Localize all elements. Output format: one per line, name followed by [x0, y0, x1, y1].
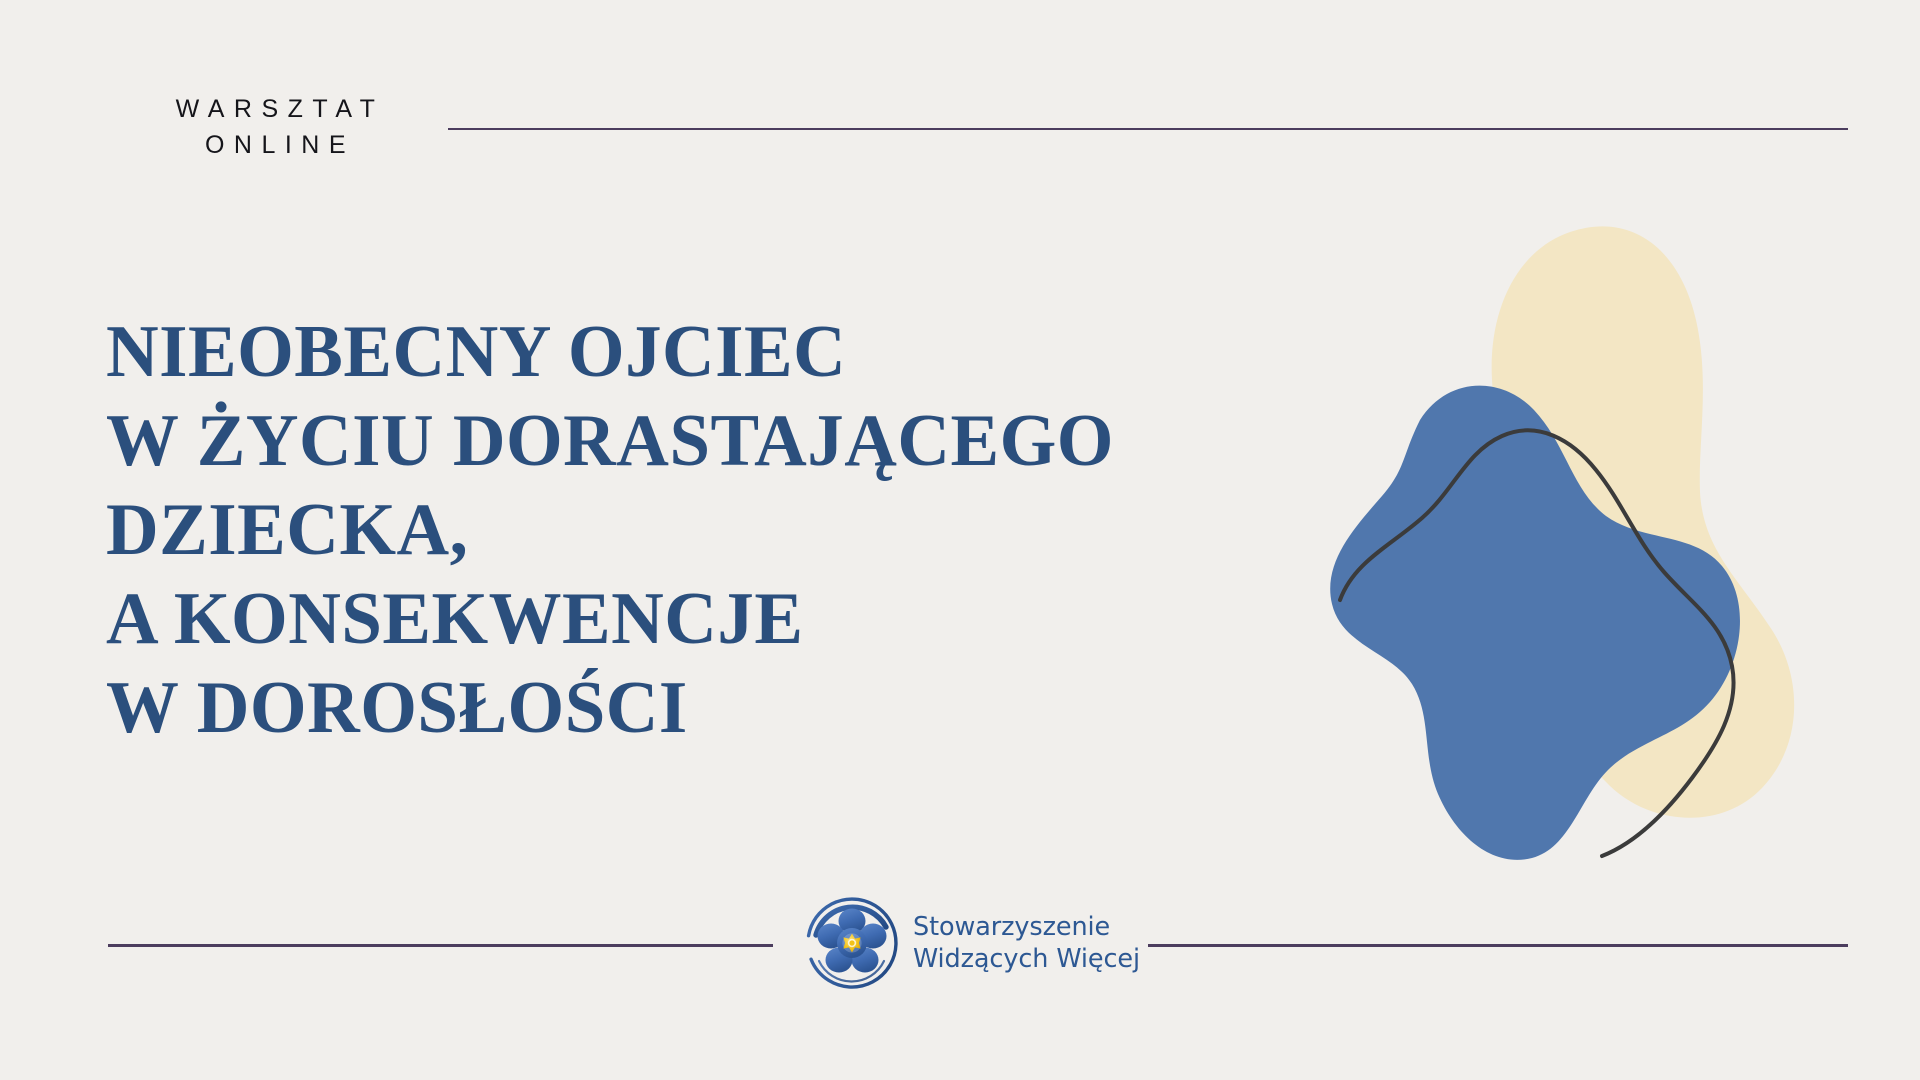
headline-line-5: W DOROSŁOŚCI: [106, 664, 1268, 753]
organization-logo: Stowarzyszenie Widzących Więcej: [800, 884, 1120, 1002]
organization-name-line-1: Stowarzyszenie: [913, 911, 1140, 943]
page-title: NIEOBECNY OJCIEC W ŻYCIU DORASTAJĄCEGO D…: [106, 308, 1268, 754]
headline-line-3: DZIECKA,: [106, 486, 1268, 575]
headline-line-4: A KONSEKWENCJE: [106, 575, 1268, 664]
forget-me-not-flower-icon: [800, 891, 904, 995]
blue-blob-shape: [1330, 386, 1740, 860]
decorative-blobs: [1280, 180, 1920, 860]
divider-bottom-left: [108, 944, 773, 947]
eyebrow-row: WARSZTAT ONLINE: [0, 92, 1920, 172]
cream-blob-shape: [1492, 226, 1795, 817]
organization-name-line-2: Widzących Więcej: [913, 943, 1140, 975]
eyebrow-line-1: WARSZTAT: [176, 95, 385, 123]
outline-squiggle-shape: [1340, 430, 1734, 856]
eyebrow-line-2: ONLINE: [140, 128, 420, 164]
divider-top: [448, 128, 1848, 130]
headline-line-1: NIEOBECNY OJCIEC: [106, 308, 1268, 397]
headline-line-2: W ŻYCIU DORASTAJĄCEGO: [106, 397, 1268, 486]
poster-canvas: WARSZTAT ONLINE NIEOBECNY OJCIEC W ŻYCIU…: [0, 0, 1920, 1080]
organization-name: Stowarzyszenie Widzących Więcej: [913, 911, 1140, 976]
eyebrow-label: WARSZTAT ONLINE: [140, 92, 420, 163]
divider-bottom-right: [1148, 944, 1848, 947]
